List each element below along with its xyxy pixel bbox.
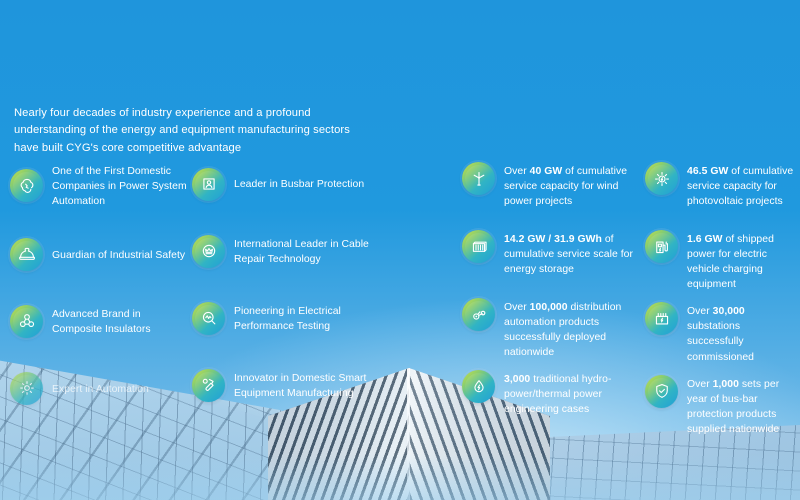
smart-equipment-icon: [192, 369, 225, 402]
brain-gear-icon: [10, 169, 43, 202]
list-item-label: 1.6 GW of shipped power for electric veh…: [687, 230, 797, 292]
list-item[interactable]: Guardian of Industrial Safety: [10, 232, 190, 276]
list-item[interactable]: Advanced Brand in Composite Insulators: [10, 299, 190, 343]
list-item-label: Guardian of Industrial Safety: [52, 246, 185, 263]
hard-hat-icon: [10, 238, 43, 271]
list-item[interactable]: Over 100,000 distribution automation pro…: [462, 298, 642, 360]
column-strengths-right: Leader in Busbar Protection Internationa…: [192, 162, 377, 407]
list-item[interactable]: 1.6 GW of shipped power for electric veh…: [645, 230, 797, 292]
magnifier-waveform-icon: [192, 302, 225, 335]
intro-paragraph: Nearly four decades of industry experien…: [14, 105, 374, 157]
list-item[interactable]: Over 30,000 substations successfully com…: [645, 302, 797, 364]
list-item[interactable]: 46.5 GW of cumulative service capacity f…: [645, 162, 797, 220]
column-stats-left: Over 40 GW of cumulative service capacit…: [462, 162, 642, 438]
list-item-label: Innovator in Domestic Smart Equipment Ma…: [234, 369, 377, 401]
substation-icon: [645, 302, 678, 335]
energy-storage-icon: [462, 230, 495, 263]
busbar-shield-person-icon: [192, 168, 225, 201]
list-item[interactable]: Leader in Busbar Protection: [192, 162, 377, 206]
list-item-label: Over 100,000 distribution automation pro…: [504, 298, 642, 360]
solar-pv-icon: [645, 162, 678, 195]
list-item-label: Pioneering in Electrical Performance Tes…: [234, 302, 377, 334]
wind-turbine-icon: [462, 162, 495, 195]
list-item[interactable]: Pioneering in Electrical Performance Tes…: [192, 296, 377, 340]
ev-charger-icon: [645, 230, 678, 263]
list-item[interactable]: International Leader in Cable Repair Tec…: [192, 229, 377, 273]
list-item-label: Leader in Busbar Protection: [234, 175, 364, 192]
shield-check-icon: [645, 375, 678, 408]
list-item[interactable]: Innovator in Domestic Smart Equipment Ma…: [192, 363, 377, 407]
distribution-automation-icon: [462, 298, 495, 331]
list-item-label: One of the First Domestic Companies in P…: [52, 162, 190, 209]
list-item-label: Advanced Brand in Composite Insulators: [52, 305, 190, 337]
crown-cable-icon: [192, 235, 225, 268]
list-item-label: International Leader in Cable Repair Tec…: [234, 235, 377, 267]
list-item[interactable]: One of the First Domestic Companies in P…: [10, 162, 190, 209]
list-item-label: Over 1,000 sets per year of bus-bar prot…: [687, 375, 797, 437]
list-item-label: Expert in Automation: [52, 380, 149, 397]
list-item[interactable]: Over 1,000 sets per year of bus-bar prot…: [645, 375, 797, 437]
column-strengths-left: One of the First Domestic Companies in P…: [10, 162, 190, 410]
content-layer: Nearly four decades of industry experien…: [0, 0, 800, 500]
gear-automation-icon: [10, 372, 43, 405]
water-drop-power-icon: [462, 370, 495, 403]
composite-insulator-icon: [10, 305, 43, 338]
list-item-label: 14.2 GW / 31.9 GWh of cumulative service…: [504, 230, 642, 277]
list-item-label: Over 40 GW of cumulative service capacit…: [504, 162, 642, 209]
promo-banner: Nearly four decades of industry experien…: [0, 0, 800, 500]
list-item[interactable]: Over 40 GW of cumulative service capacit…: [462, 162, 642, 220]
list-item[interactable]: Expert in Automation: [10, 366, 190, 410]
list-item[interactable]: 14.2 GW / 31.9 GWh of cumulative service…: [462, 230, 642, 288]
list-item-label: 46.5 GW of cumulative service capacity f…: [687, 162, 797, 209]
list-item-label: 3,000 traditional hydro-power/thermal po…: [504, 370, 642, 417]
list-item[interactable]: 3,000 traditional hydro-power/thermal po…: [462, 370, 642, 428]
column-stats-right: 46.5 GW of cumulative service capacity f…: [645, 162, 797, 447]
list-item-label: Over 30,000 substations successfully com…: [687, 302, 797, 364]
